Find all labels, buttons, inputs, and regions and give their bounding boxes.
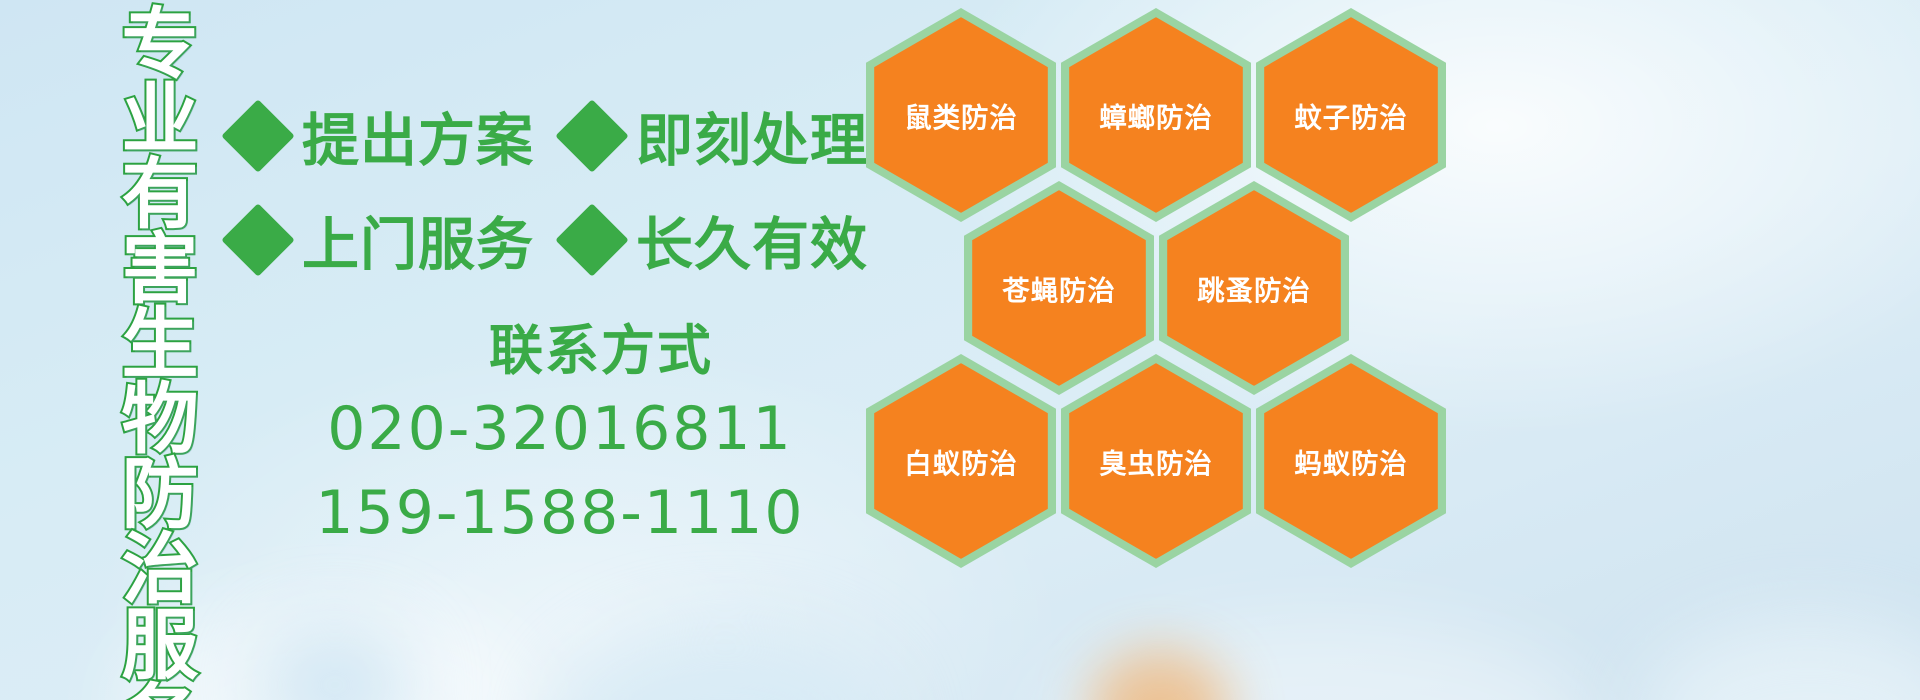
vertical-headline-char: 业 [122,83,199,158]
feature-item-immediate-handling: 即刻处理 [566,95,868,177]
feature-item-onsite-service: 上门服务 [232,199,534,281]
vertical-headline-char: 害 [122,233,199,308]
vertical-headline-char: 物 [122,383,199,458]
service-label: 蟑螂防治 [1099,95,1212,135]
service-label: 蚂蚁防治 [1294,441,1407,481]
background-blur-blob [1640,620,1920,700]
feature-row: 上门服务 长久有效 [232,188,872,292]
contact-heading: 联系方式 [382,320,820,382]
contact-block: 联系方式 020-32016811 159-1588-1110 [300,320,820,551]
vertical-headline-char: 务 [122,684,199,700]
service-hexagon-grid: 鼠类防治 蟑螂防治 蚊子防治 苍蝇防治 跳蚤防治 [858,0,1458,700]
pest-control-banner: 专 业 有 害 生 物 防 治 服 务 提出方案 即刻处理 上门服务 [0,0,1920,700]
feature-list: 提出方案 即刻处理 上门服务 长久有效 [232,84,872,292]
service-label: 鼠类防治 [904,95,1017,135]
phone-number-mobile[interactable]: 159-1588-1110 [300,476,820,550]
feature-row: 提出方案 即刻处理 [232,84,872,188]
service-hex-termite[interactable]: 白蚁防治 [866,354,1056,568]
feature-item-long-lasting: 长久有效 [566,199,868,281]
service-label: 白蚁防治 [904,441,1017,481]
background-blur-blob [260,630,410,700]
background-blur-blob [560,630,890,700]
vertical-headline-char: 服 [122,609,199,684]
phone-number-landline[interactable]: 020-32016811 [300,392,820,466]
vertical-headline: 专 业 有 害 生 物 防 治 服 务 [104,8,216,692]
feature-label: 提出方案 [302,95,534,177]
service-label: 蚊子防治 [1294,95,1407,135]
vertical-headline-char: 专 [122,8,199,83]
service-hex-bedbug[interactable]: 臭虫防治 [1061,354,1251,568]
diamond-bullet-icon [221,99,295,173]
feature-label: 上门服务 [302,199,534,281]
service-label: 跳蚤防治 [1197,268,1310,308]
vertical-headline-char: 有 [122,158,199,233]
vertical-headline-char: 防 [122,458,199,533]
service-label: 苍蝇防治 [1002,268,1115,308]
service-label: 臭虫防治 [1099,441,1212,481]
feature-label: 即刻处理 [636,95,868,177]
feature-label: 长久有效 [636,199,868,281]
feature-item-propose-plan: 提出方案 [232,95,534,177]
diamond-bullet-icon [555,203,629,277]
diamond-bullet-icon [221,203,295,277]
service-hex-ant[interactable]: 蚂蚁防治 [1256,354,1446,568]
diamond-bullet-icon [555,99,629,173]
vertical-headline-char: 治 [122,533,199,608]
vertical-headline-char: 生 [122,308,199,383]
